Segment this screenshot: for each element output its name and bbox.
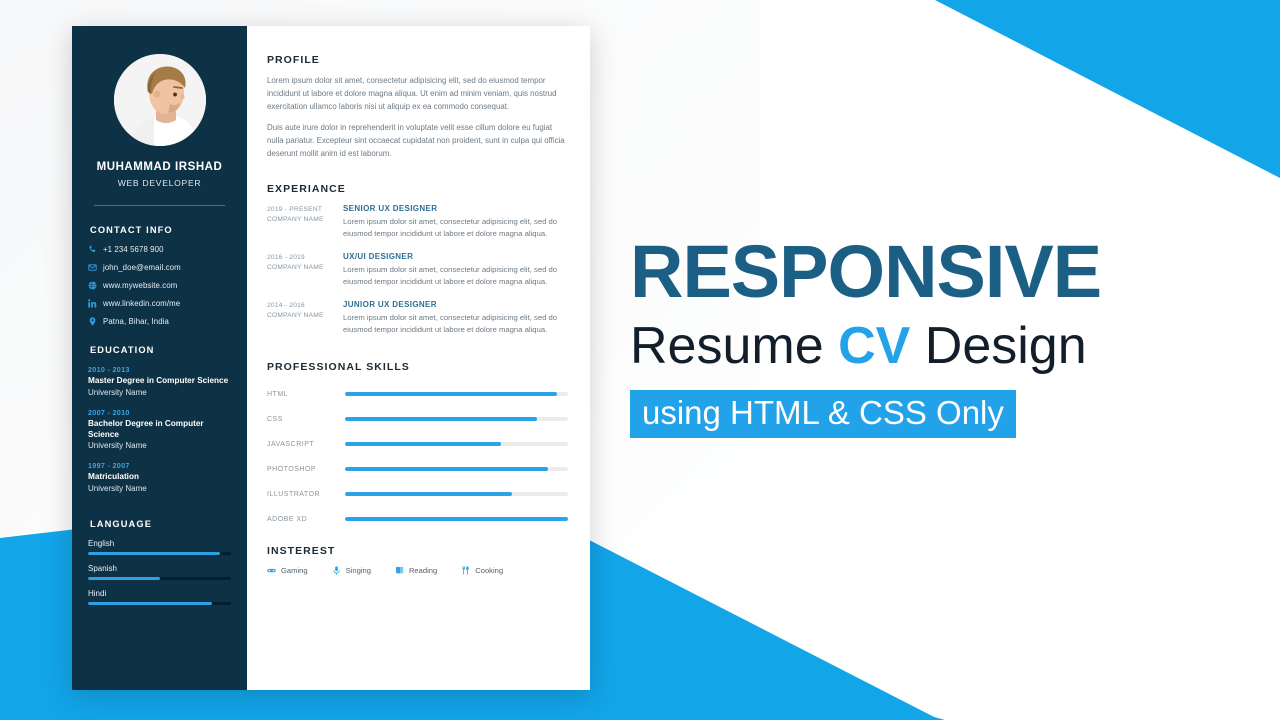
contact-item-website[interactable]: www.mywebsite.com [88, 281, 231, 290]
education-university: University Name [88, 441, 231, 450]
contact-item-email[interactable]: john_doe@email.com [88, 263, 231, 272]
language-progress-fill [88, 602, 212, 605]
book-icon [395, 566, 404, 575]
contact-list: +1 234 5678 900 john_doe@email.com www.m… [88, 245, 231, 326]
skill-item: HTML [267, 382, 568, 407]
skill-name: HTML [267, 391, 345, 398]
skill-progress-fill [345, 392, 557, 396]
language-heading: LANGUAGE [90, 519, 231, 529]
language-name: Hindi [88, 589, 231, 598]
language-item: English [88, 539, 231, 555]
language-list: English Spanish Hindi [88, 539, 231, 605]
skills-heading: PROFESSIONAL SKILLS [267, 361, 568, 373]
interest-heading: INSTEREST [267, 545, 568, 557]
promo-sub-after: Design [910, 317, 1086, 375]
language-progress-track [88, 577, 231, 580]
education-item: 1997 - 2007 Matriculation University Nam… [88, 461, 231, 493]
profile-heading: PROFILE [267, 54, 568, 66]
experience-company: COMPANY NAME [267, 311, 343, 321]
education-years: 2007 - 2010 [88, 408, 231, 417]
experience-body: SENIOR UX DESIGNER Lorem ipsum dolor sit… [343, 204, 568, 241]
experience-company: COMPANY NAME [267, 263, 343, 273]
interest-item-singing: Singing [332, 566, 371, 575]
experience-heading: EXPERIANCE [267, 183, 568, 195]
experience-body: UX/UI DESIGNER Lorem ipsum dolor sit ame… [343, 252, 568, 289]
language-item: Hindi [88, 589, 231, 605]
cutlery-icon [461, 566, 470, 575]
experience-meta: 2019 - PRESENT COMPANY NAME [267, 204, 343, 241]
language-progress-fill [88, 577, 160, 580]
skill-progress-fill [345, 517, 568, 521]
linkedin-icon [88, 299, 103, 308]
skill-item: ADOBE XD [267, 507, 568, 532]
skill-name: JAVASCRIPT [267, 441, 345, 448]
experience-title: JUNIOR UX DESIGNER [343, 300, 568, 309]
promo-badge: using HTML & CSS Only [630, 390, 1016, 438]
profile-paragraph: Duis aute irure dolor in reprehenderit i… [267, 122, 568, 160]
skill-progress-track [345, 417, 568, 421]
gamepad-icon [267, 566, 276, 575]
phone-icon [88, 245, 103, 254]
resume-card: MUHAMMAD IRSHAD WEB DEVELOPER CONTACT IN… [72, 26, 590, 690]
promo-block: RESPONSIVE Resume CV Design using HTML &… [630, 236, 1250, 438]
skill-progress-fill [345, 467, 548, 471]
experience-item: 2014 - 2016 COMPANY NAME JUNIOR UX DESIG… [267, 300, 568, 337]
experience-date: 2019 - PRESENT [267, 205, 343, 215]
education-years: 2010 - 2013 [88, 365, 231, 374]
experience-description: Lorem ipsum dolor sit amet, consectetur … [343, 312, 568, 337]
contact-value: Patna, Bihar, India [103, 317, 169, 326]
skill-item: ILLUSTRATOR [267, 482, 568, 507]
interest-list: Gaming Singing Reading Cooking [267, 566, 568, 575]
experience-title: UX/UI DESIGNER [343, 252, 568, 261]
portrait-illustration-icon [114, 54, 206, 146]
interest-item-reading: Reading [395, 566, 437, 575]
education-degree: Bachelor Degree in Computer Science [88, 419, 231, 441]
education-list: 2010 - 2013 Master Degree in Computer Sc… [88, 365, 231, 493]
skill-progress-track [345, 517, 568, 521]
promo-badge-wrap: using HTML & CSS Only [630, 390, 1016, 438]
experience-item: 2016 - 2019 COMPANY NAME UX/UI DESIGNER … [267, 252, 568, 289]
interest-label: Gaming [281, 566, 308, 575]
interest-label: Singing [346, 566, 371, 575]
language-item: Spanish [88, 564, 231, 580]
skill-progress-fill [345, 417, 537, 421]
skill-progress-fill [345, 442, 501, 446]
promo-sub-before: Resume [630, 317, 838, 375]
contact-value: www.linkedin.com/me [103, 299, 180, 308]
microphone-icon [332, 566, 341, 575]
contact-heading: CONTACT INFO [90, 225, 231, 235]
promo-subheadline: Resume CV Design [630, 313, 1250, 380]
sidebar-divider [94, 205, 225, 206]
skill-item: PHOTOSHOP [267, 457, 568, 482]
interest-label: Cooking [475, 566, 503, 575]
contact-value: +1 234 5678 900 [103, 245, 164, 254]
promo-headline: RESPONSIVE [630, 236, 1250, 307]
experience-body: JUNIOR UX DESIGNER Lorem ipsum dolor sit… [343, 300, 568, 337]
location-pin-icon [88, 317, 103, 326]
education-item: 2007 - 2010 Bachelor Degree in Computer … [88, 408, 231, 451]
contact-item-linkedin[interactable]: www.linkedin.com/me [88, 299, 231, 308]
skill-name: ILLUSTRATOR [267, 491, 345, 498]
skill-progress-track [345, 492, 568, 496]
experience-meta: 2014 - 2016 COMPANY NAME [267, 300, 343, 337]
contact-item-location[interactable]: Patna, Bihar, India [88, 317, 231, 326]
skill-progress-track [345, 467, 568, 471]
contact-value: john_doe@email.com [103, 263, 181, 272]
experience-item: 2019 - PRESENT COMPANY NAME SENIOR UX DE… [267, 204, 568, 241]
education-heading: EDUCATION [90, 345, 231, 355]
skill-progress-track [345, 392, 568, 396]
skill-progress-track [345, 442, 568, 446]
profile-paragraph: Lorem ipsum dolor sit amet, consectetur … [267, 75, 568, 113]
education-degree: Matriculation [88, 472, 231, 483]
promo-sub-highlight: CV [838, 317, 910, 375]
globe-icon [88, 281, 103, 290]
language-name: English [88, 539, 231, 548]
experience-meta: 2016 - 2019 COMPANY NAME [267, 252, 343, 289]
interest-item-gaming: Gaming [267, 566, 308, 575]
language-progress-track [88, 552, 231, 555]
contact-item-phone[interactable]: +1 234 5678 900 [88, 245, 231, 254]
language-name: Spanish [88, 564, 231, 573]
candidate-role: WEB DEVELOPER [88, 178, 231, 188]
skill-item: CSS [267, 407, 568, 432]
language-progress-fill [88, 552, 220, 555]
education-university: University Name [88, 388, 231, 397]
contact-value: www.mywebsite.com [103, 281, 177, 290]
education-years: 1997 - 2007 [88, 461, 231, 470]
skill-item: JAVASCRIPT [267, 432, 568, 457]
interest-label: Reading [409, 566, 437, 575]
resume-main: PROFILE Lorem ipsum dolor sit amet, cons… [247, 26, 590, 690]
skill-name: PHOTOSHOP [267, 466, 345, 473]
skill-name: CSS [267, 416, 345, 423]
education-item: 2010 - 2013 Master Degree in Computer Sc… [88, 365, 231, 397]
envelope-icon [88, 263, 103, 272]
avatar [114, 54, 206, 146]
candidate-name: MUHAMMAD IRSHAD [88, 161, 231, 173]
education-university: University Name [88, 484, 231, 493]
experience-date: 2014 - 2016 [267, 301, 343, 311]
interest-item-cooking: Cooking [461, 566, 503, 575]
education-degree: Master Degree in Computer Science [88, 376, 231, 387]
skill-name: ADOBE XD [267, 516, 345, 523]
language-progress-track [88, 602, 231, 605]
experience-date: 2016 - 2019 [267, 253, 343, 263]
experience-title: SENIOR UX DESIGNER [343, 204, 568, 213]
experience-description: Lorem ipsum dolor sit amet, consectetur … [343, 264, 568, 289]
skill-progress-fill [345, 492, 512, 496]
resume-sidebar: MUHAMMAD IRSHAD WEB DEVELOPER CONTACT IN… [72, 26, 247, 690]
experience-company: COMPANY NAME [267, 215, 343, 225]
experience-description: Lorem ipsum dolor sit amet, consectetur … [343, 216, 568, 241]
